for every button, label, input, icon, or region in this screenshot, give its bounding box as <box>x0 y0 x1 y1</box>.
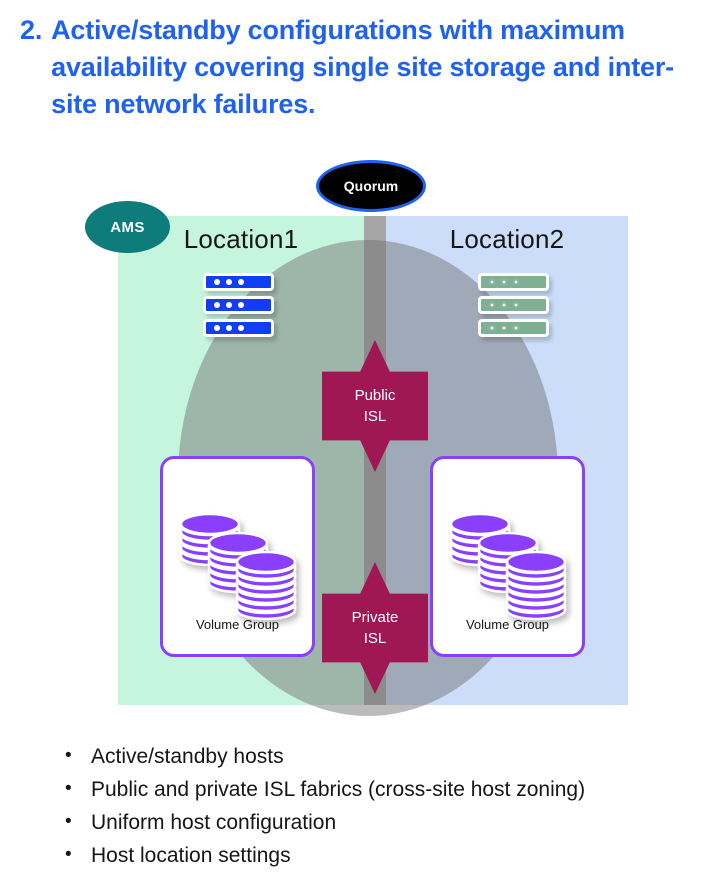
location2-server-stack <box>478 273 549 337</box>
feature-bullet-list: Active/standby hosts Public and private … <box>60 740 690 872</box>
database-icon <box>505 549 567 627</box>
list-item: Host location settings <box>60 839 690 872</box>
location2-volume-group-card: Volume Group <box>430 456 585 657</box>
private-isl-label-line2: ISL <box>352 628 399 649</box>
public-isl-label-line1: Public <box>355 385 396 406</box>
server-icon <box>478 296 549 314</box>
page-title: 2. Active/standby configurations with ma… <box>20 12 690 123</box>
disk-stack-group <box>449 511 573 611</box>
location1-volume-group-label: Volume Group <box>163 617 312 632</box>
server-icon <box>203 319 274 337</box>
server-icon <box>203 296 274 314</box>
private-isl-label-line1: Private <box>352 607 399 628</box>
location2-label: Location2 <box>386 224 628 255</box>
list-item: Uniform host configuration <box>60 806 690 839</box>
database-icon <box>235 549 297 627</box>
location1-volume-group-card: Volume Group <box>160 456 315 657</box>
server-icon <box>478 319 549 337</box>
architecture-diagram: Location1 Location2 AMS Quorum <box>0 150 704 730</box>
list-item: Active/standby hosts <box>60 740 690 773</box>
disk-stack-group <box>179 511 303 611</box>
server-icon <box>478 273 549 291</box>
location1-server-stack <box>203 273 274 337</box>
ams-badge-label: AMS <box>110 219 145 236</box>
page-title-number: 2. <box>20 12 51 49</box>
server-icon <box>203 273 274 291</box>
quorum-badge: Quorum <box>316 160 426 212</box>
public-isl-label-line2: ISL <box>355 406 396 427</box>
location2-volume-group-label: Volume Group <box>433 617 582 632</box>
quorum-badge-label: Quorum <box>344 178 398 194</box>
page-title-text: Active/standby configurations with maxim… <box>51 12 690 123</box>
list-item: Public and private ISL fabrics (cross-si… <box>60 773 690 806</box>
ams-badge: AMS <box>85 201 170 253</box>
